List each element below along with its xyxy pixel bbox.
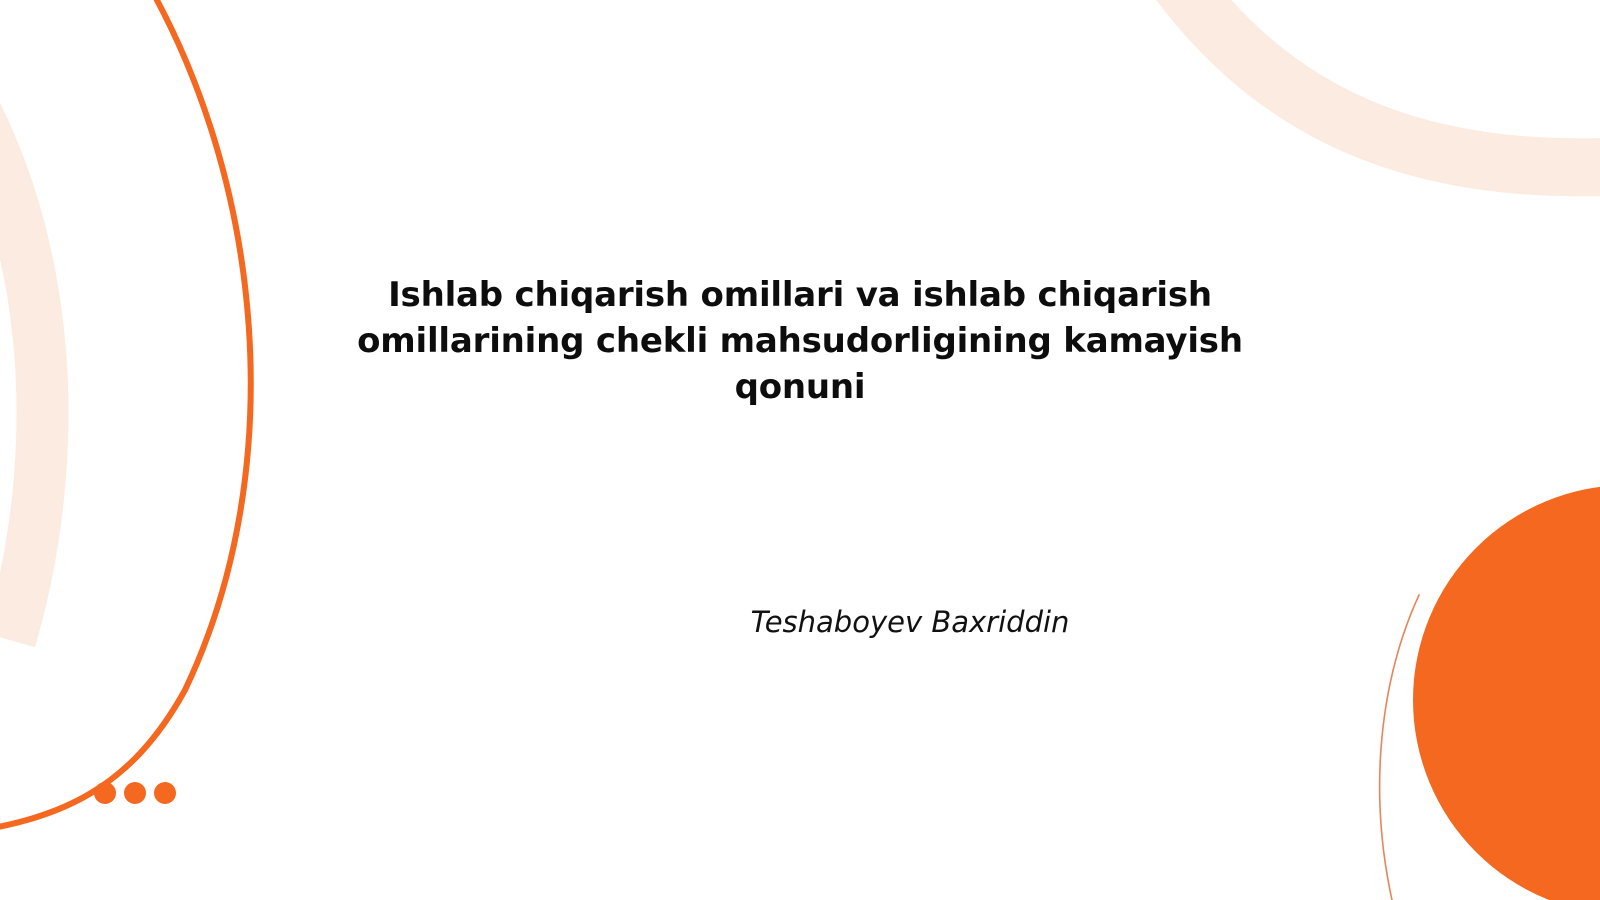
slide-title-block: Ishlab chiqarish omillari va ishlab chiq… (300, 272, 1300, 410)
slide-content: Ishlab chiqarish omillari va ishlab chiq… (0, 0, 1600, 900)
slide-author-name: Teshaboyev Baxriddin (400, 602, 1420, 642)
presentation-slide: Ishlab chiqarish omillari va ishlab chiq… (0, 0, 1600, 900)
slide-title: Ishlab chiqarish omillari va ishlab chiq… (300, 272, 1300, 410)
slide-subtitle-block: Teshaboyev Baxriddin (400, 602, 1420, 642)
